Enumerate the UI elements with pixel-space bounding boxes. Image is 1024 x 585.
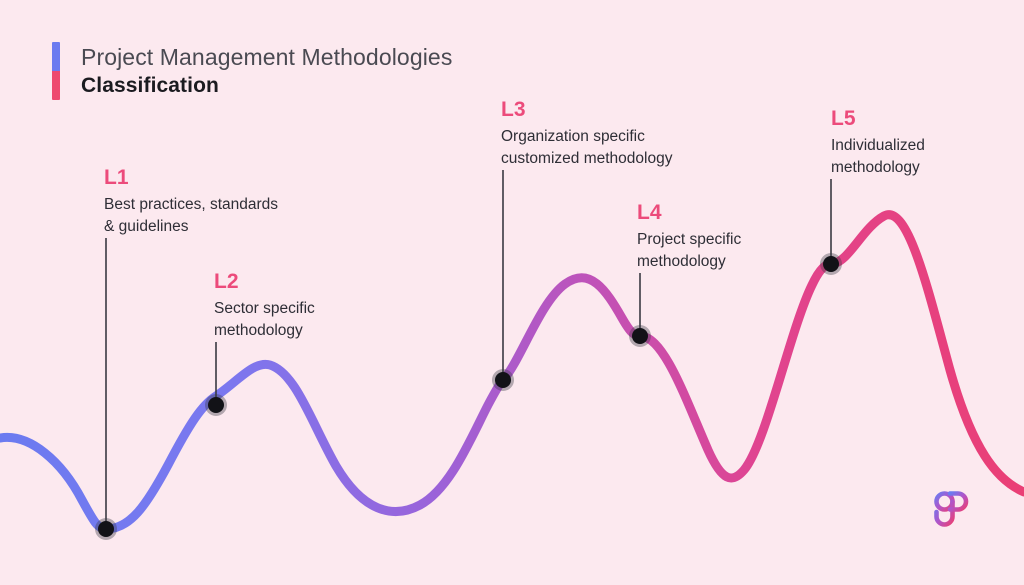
leader-lines-and-markers bbox=[0, 0, 1024, 585]
marker-dot-l1[interactable] bbox=[98, 521, 114, 537]
marker-dot-l5[interactable] bbox=[823, 256, 839, 272]
infographic-canvas: Project Management Methodologies Classif… bbox=[0, 0, 1024, 585]
marker-dot-l4[interactable] bbox=[632, 328, 648, 344]
marker-dot-l2[interactable] bbox=[208, 397, 224, 413]
marker-dot-l3[interactable] bbox=[495, 372, 511, 388]
gp-monogram-logo bbox=[928, 486, 972, 530]
